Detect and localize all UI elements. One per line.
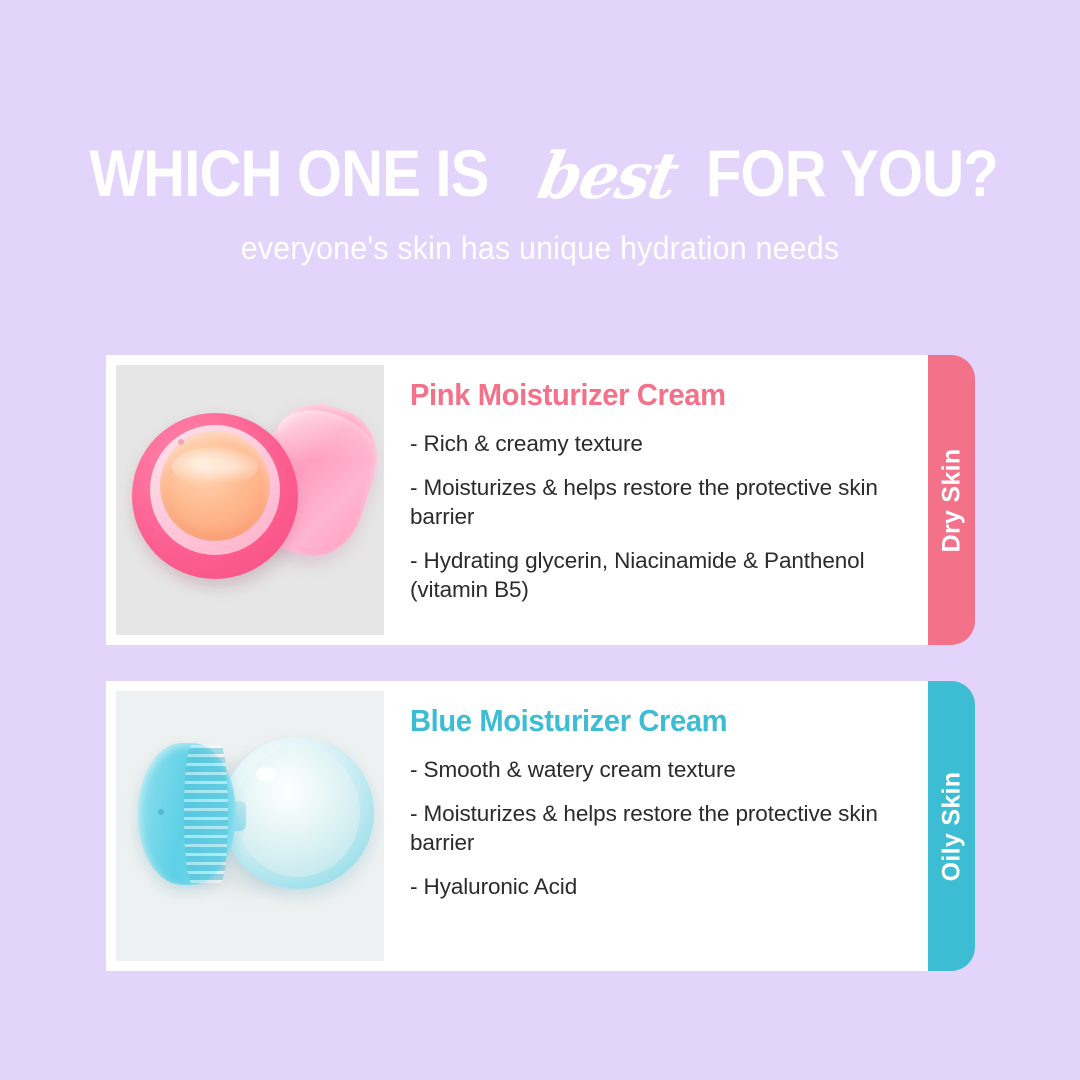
jar-cream-swirl	[172, 447, 258, 487]
product-details-pink: Pink Moisturizer Cream - Rich & creamy t…	[384, 365, 922, 635]
skin-type-tab-dry[interactable]: Dry Skin	[928, 355, 975, 645]
headline-script-word: best	[520, 144, 697, 210]
jar-lid-ridges	[184, 745, 228, 883]
product-bullet: - Smooth & watery cream texture	[410, 755, 922, 784]
product-bullet: - Rich & creamy texture	[410, 429, 922, 458]
headline-part-2: FOR YOU?	[706, 140, 998, 206]
page-subtitle: everyone's skin has unique hydration nee…	[27, 228, 1053, 268]
headline-part-1: WHICH ONE IS	[89, 140, 488, 206]
product-image-blue	[116, 691, 384, 961]
product-bullet: - Hydrating glycerin, Niacinamide & Pant…	[410, 546, 922, 604]
product-card-pink[interactable]: Pink Moisturizer Cream - Rich & creamy t…	[106, 355, 932, 645]
jar-lid-dot	[178, 439, 184, 445]
skin-type-tab-label: Dry Skin	[937, 448, 966, 552]
product-bullet: - Moisturizes & helps restore the protec…	[410, 473, 922, 531]
page-title: WHICH ONE IS best FOR YOU?	[0, 140, 1080, 220]
product-bullet: - Moisturizes & helps restore the protec…	[410, 799, 922, 857]
skin-type-tab-label: Oily Skin	[937, 771, 966, 881]
product-image-pink	[116, 365, 384, 635]
jar-gel	[236, 747, 360, 877]
product-details-blue: Blue Moisturizer Cream - Smooth & watery…	[384, 691, 922, 961]
product-card-blue[interactable]: Blue Moisturizer Cream - Smooth & watery…	[106, 681, 932, 971]
product-title-pink: Pink Moisturizer Cream	[410, 377, 891, 413]
skin-type-tab-oily[interactable]: Oily Skin	[928, 681, 975, 971]
jar-lid-dot	[158, 809, 164, 815]
header: WHICH ONE IS best FOR YOU? everyone's sk…	[0, 0, 1080, 330]
product-title-blue: Blue Moisturizer Cream	[410, 703, 891, 739]
product-bullet: - Hyaluronic Acid	[410, 872, 922, 901]
jar-gel-bubble	[256, 767, 276, 781]
